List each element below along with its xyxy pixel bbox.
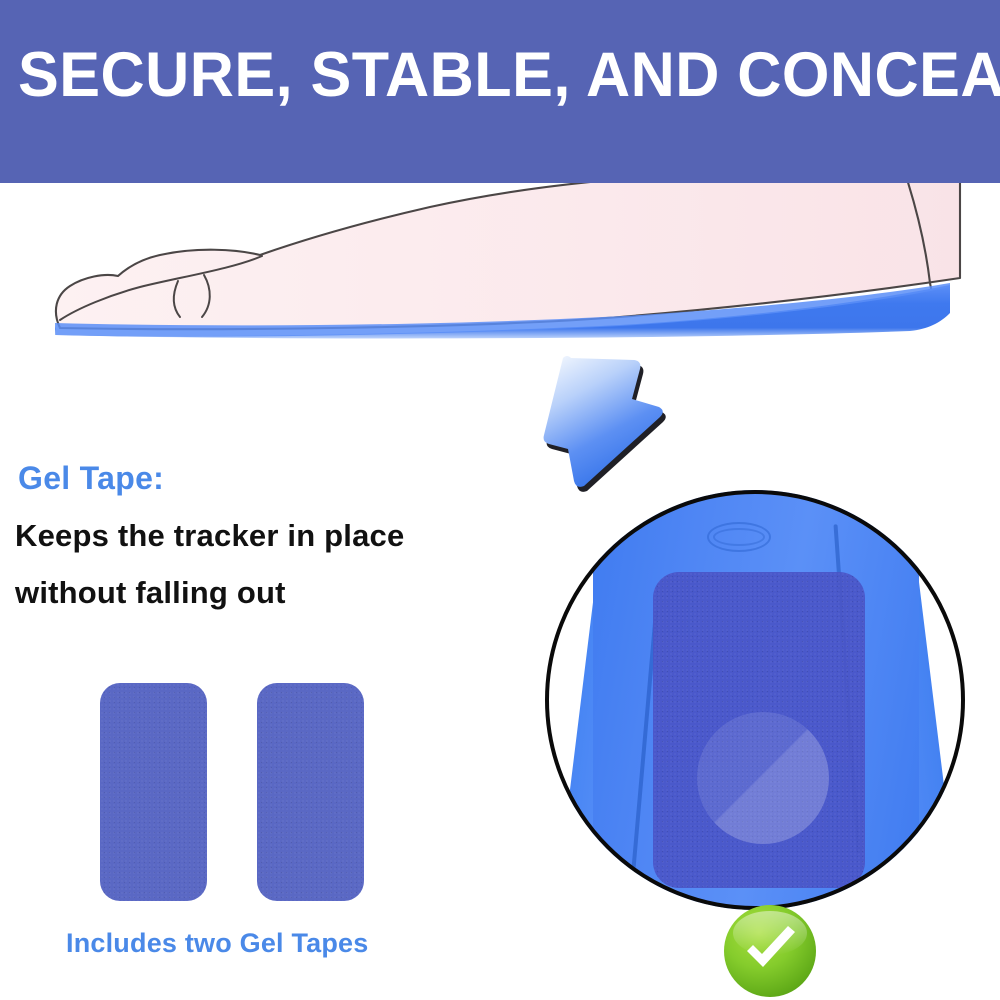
magnifier-detail-circle xyxy=(545,490,965,910)
down-right-arrow-icon xyxy=(540,350,720,510)
magnifier-content xyxy=(545,490,965,910)
arrow-body xyxy=(544,356,663,487)
tracker-disc xyxy=(697,712,829,844)
page-title: SECURE, STABLE, AND CONCEALE xyxy=(18,40,998,110)
gel-tape-heading: Gel Tape: xyxy=(18,460,164,497)
gel-tape-swatch-left xyxy=(100,683,207,901)
infographic-page: SECURE, STABLE, AND CONCEALE xyxy=(0,0,1000,1000)
heel-oval-marking xyxy=(707,522,771,552)
gel-tape-description-line-1: Keeps the tracker in place xyxy=(15,518,404,554)
header-banner: SECURE, STABLE, AND CONCEALE xyxy=(0,0,1000,183)
green-check-badge xyxy=(722,903,818,999)
gel-tape-swatch-right xyxy=(257,683,364,901)
foot-illustration xyxy=(0,183,1000,358)
gel-tape-caption: Includes two Gel Tapes xyxy=(66,928,368,959)
gel-tape-description-line-2: without falling out xyxy=(15,575,286,611)
